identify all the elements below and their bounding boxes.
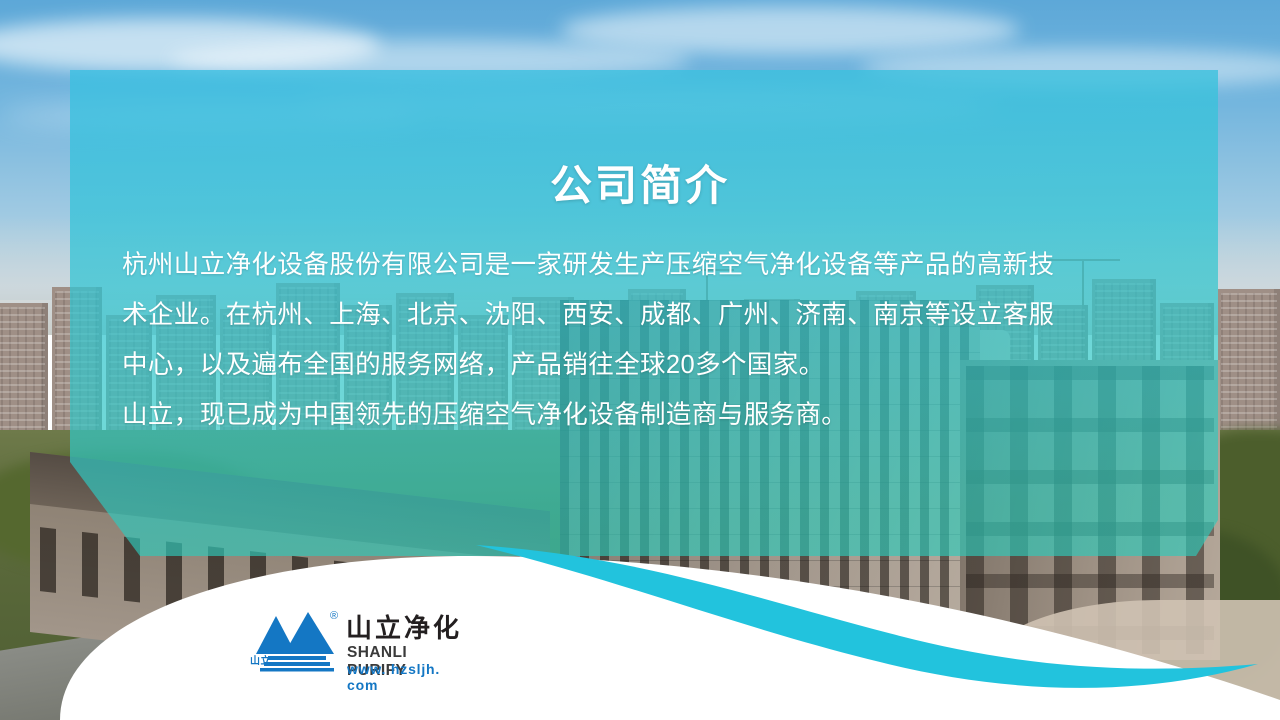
presentation-slide: 公司简介 杭州山立净化设备股份有限公司是一家研发生产压缩空气净化设备等产品的高新…	[0, 0, 1280, 720]
logo-website[interactable]: www. hzsljh. com	[347, 661, 465, 693]
registered-trademark-icon: ®	[330, 610, 338, 622]
logo-mark-label: 山立	[250, 652, 271, 667]
logo-company-cn: 山立净化	[346, 614, 462, 642]
bottom-decoration	[0, 0, 1280, 720]
company-logo: ® 山立 山立净化 SHANLI PURIFY www. hzsljh. com	[250, 608, 465, 680]
